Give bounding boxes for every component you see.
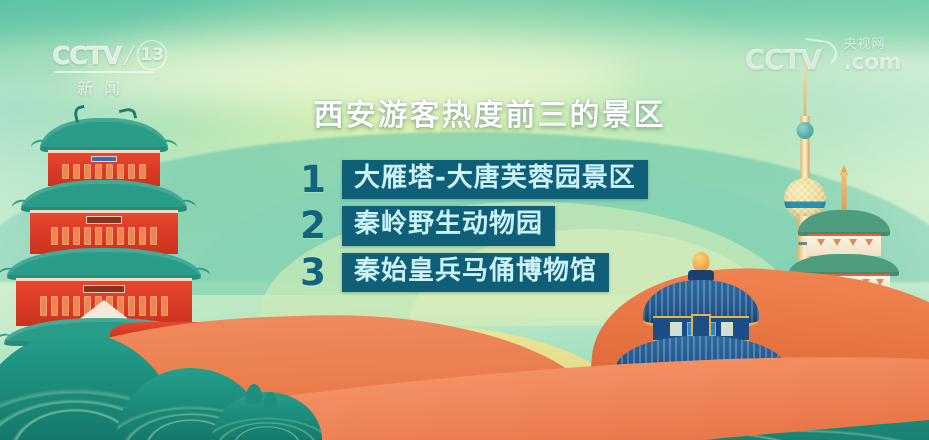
attraction-name: 秦岭野生动物园 [342, 206, 555, 245]
watermark-right-block: 央视网 .com [844, 38, 901, 74]
list-item: 1 大雁塔-大唐芙蓉园景区 [300, 160, 648, 199]
channel-number-badge: 13 [137, 40, 167, 70]
right-pagoda-body-1 [807, 234, 881, 256]
logo-slash-icon: / [122, 41, 136, 69]
rank-number: 2 [300, 207, 326, 244]
pagoda-plaque-tier-3 [83, 285, 125, 293]
website-watermark: CCTV 央视网 .com [745, 38, 901, 74]
page-title: 西安游客热度前三的景区 [0, 90, 929, 134]
tree-2 [264, 392, 277, 408]
pagoda-plaque-tier-2 [86, 216, 122, 223]
cctv-wordmark: CCTV [52, 43, 121, 68]
pagoda-roof-tier-2 [21, 180, 187, 212]
channel-logo: CCTV / 13 新闻 [52, 40, 174, 96]
list-item: 2 秦岭野生动物园 [300, 206, 648, 245]
rank-number: 1 [300, 161, 326, 198]
pagoda-windows-tier-1 [56, 164, 152, 179]
temple-finial-orb [693, 252, 710, 271]
pagoda-windows-tier-2 [40, 227, 167, 245]
channel-logo-row: CCTV / 13 [52, 40, 174, 70]
ranking-list: 1 大雁塔-大唐芙蓉园景区 2 秦岭野生动物园 3 秦始皇兵马俑博物馆 [300, 160, 648, 292]
rank-number: 3 [300, 254, 326, 291]
watermark-tld: .com [844, 52, 901, 74]
right-pagoda-roof-1 [798, 210, 890, 236]
watermark-brand-wrap: CCTV [745, 46, 821, 74]
tree-1 [246, 384, 262, 404]
attraction-name: 秦始皇兵马俑博物馆 [342, 253, 609, 292]
pagoda-plaque-blue [91, 156, 118, 162]
broadcast-graphic: CCTV / 13 新闻 CCTV 央视网 .com 西安游客热度前三的景区 1… [0, 0, 929, 440]
list-item: 3 秦始皇兵马俑博物馆 [300, 253, 648, 292]
swoosh-icon [801, 38, 838, 68]
attraction-name: 大雁塔-大唐芙蓉园景区 [342, 160, 648, 199]
right-pagoda-spire [842, 172, 847, 214]
logo-underline [54, 71, 154, 73]
